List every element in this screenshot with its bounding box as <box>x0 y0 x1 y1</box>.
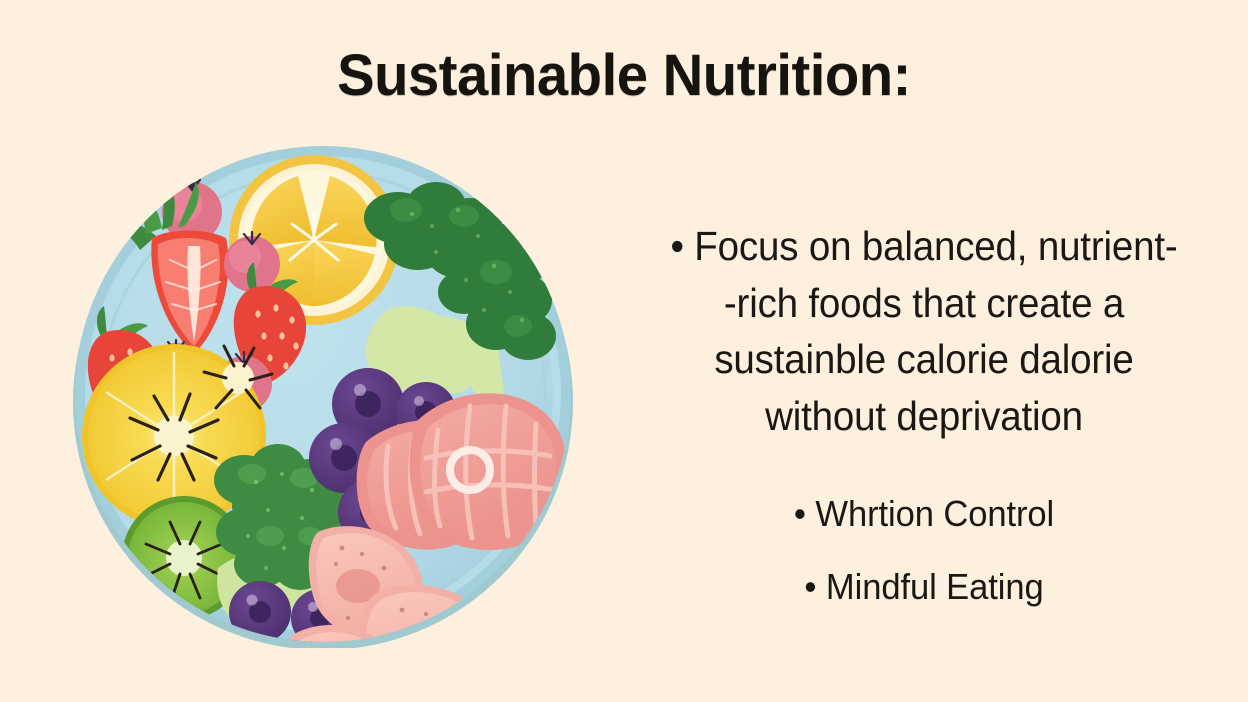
content-text-column: • Focus on balanced, nutrient- -rich foo… <box>600 218 1248 648</box>
main-bullet-line-1: • Focus on balanced, nutrient- <box>619 218 1228 275</box>
sub-bullet-list: • Whrtion Control • Mindful Eating <box>613 488 1235 612</box>
main-bullet-line-3: sustainble calorie dalorie <box>619 331 1228 388</box>
sub-bullet-item-portion-control: • Whrtion Control <box>613 488 1235 539</box>
page-title: Sustainable Nutrition: <box>19 46 1230 107</box>
plate-svg <box>66 140 580 648</box>
food-salmon-steak <box>410 393 568 550</box>
main-bullet-line-2: -rich foods that create a <box>619 275 1228 332</box>
main-bullet-line-4: without deprivation <box>619 388 1228 445</box>
main-bullet-paragraph: • Focus on balanced, nutrient- -rich foo… <box>619 218 1228 444</box>
sub-bullet-item-mindful-eating: • Mindful Eating <box>613 561 1235 612</box>
slide-canvas: Sustainable Nutrition: <box>0 0 1248 702</box>
healthy-food-plate-illustration <box>66 140 580 648</box>
